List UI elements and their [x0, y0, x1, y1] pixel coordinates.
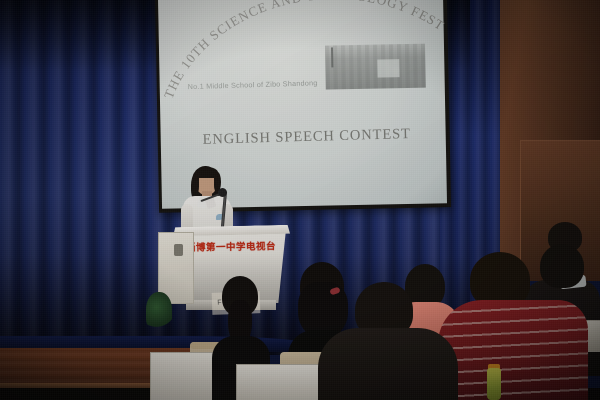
desk-center — [236, 364, 322, 400]
drink-bottle — [487, 368, 501, 400]
audience-member-striped-body — [438, 300, 588, 400]
side-cabinet-handle — [174, 244, 183, 256]
slide-main-title: ENGLISH SPEECH CONTEST — [161, 125, 453, 150]
auditorium-photo: THE 10TH SCIENCE AND TECHNOLOGY FESTIVAL… — [0, 0, 600, 400]
desk-left — [150, 352, 214, 400]
audience-member-foreground-body — [318, 328, 458, 400]
microphone-head — [218, 188, 227, 197]
audience-member-right-head — [540, 244, 584, 288]
potted-plant — [146, 292, 172, 330]
speaker-hair-left — [192, 172, 199, 194]
